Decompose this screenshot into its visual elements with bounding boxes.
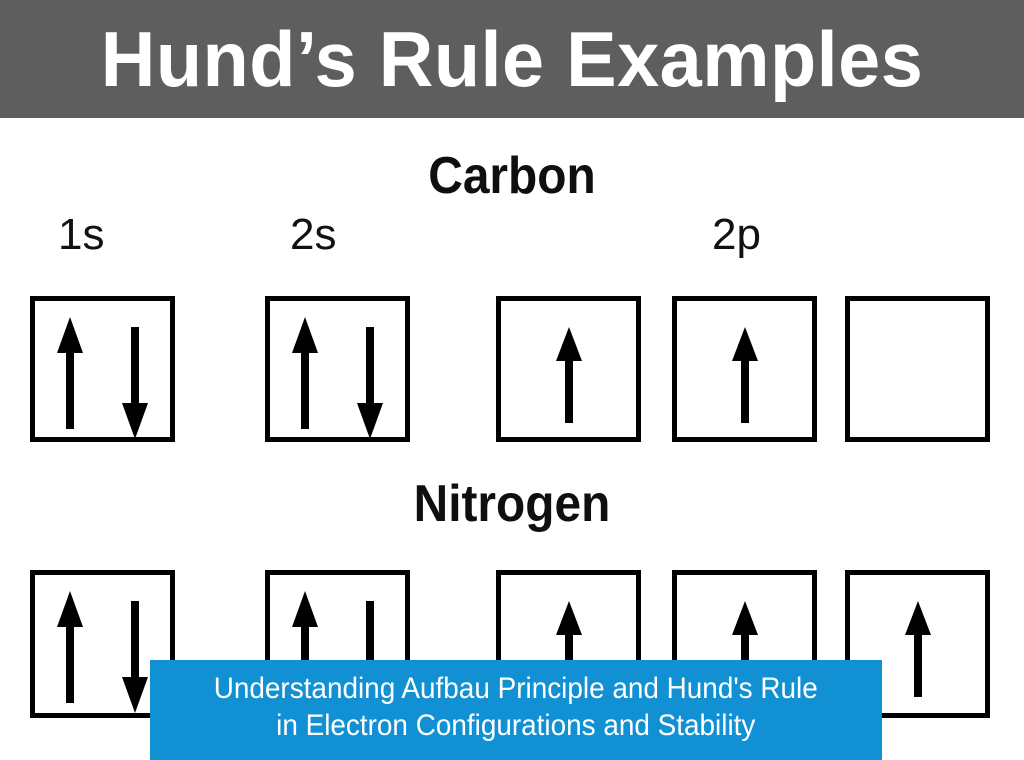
slide-canvas: Hund’s Rule Examples Carbon 1s 2s 2p <box>0 0 1024 760</box>
element-title-nitrogen: Nitrogen <box>41 478 983 530</box>
page-title: Hund’s Rule Examples <box>101 20 924 98</box>
spin-up-arrow-icon <box>732 327 758 423</box>
spin-up-arrow-icon <box>57 591 83 703</box>
subshell-label-2p: 2p <box>712 213 761 257</box>
spin-down-arrow-icon <box>122 327 148 439</box>
caption-banner: Understanding Aufbau Principle and Hund'… <box>150 660 882 760</box>
spin-down-arrow-icon <box>357 327 383 439</box>
spin-up-arrow-icon <box>57 317 83 429</box>
caption-text: Understanding Aufbau Principle and Hund'… <box>214 671 818 744</box>
orbital-box-carbon-2p-1 <box>496 296 641 442</box>
orbital-box-carbon-2s <box>265 296 410 442</box>
header-bar: Hund’s Rule Examples <box>0 0 1024 118</box>
subshell-label-1s: 1s <box>58 213 104 257</box>
element-title-carbon: Carbon <box>41 150 983 202</box>
spin-up-arrow-icon <box>292 317 318 429</box>
spin-up-arrow-icon <box>905 601 931 697</box>
spin-down-arrow-icon <box>122 601 148 713</box>
orbital-box-carbon-2p-3 <box>845 296 990 442</box>
orbital-box-carbon-1s <box>30 296 175 442</box>
spin-up-arrow-icon <box>556 327 582 423</box>
orbital-box-carbon-2p-2 <box>672 296 817 442</box>
subshell-label-2s: 2s <box>290 213 336 257</box>
